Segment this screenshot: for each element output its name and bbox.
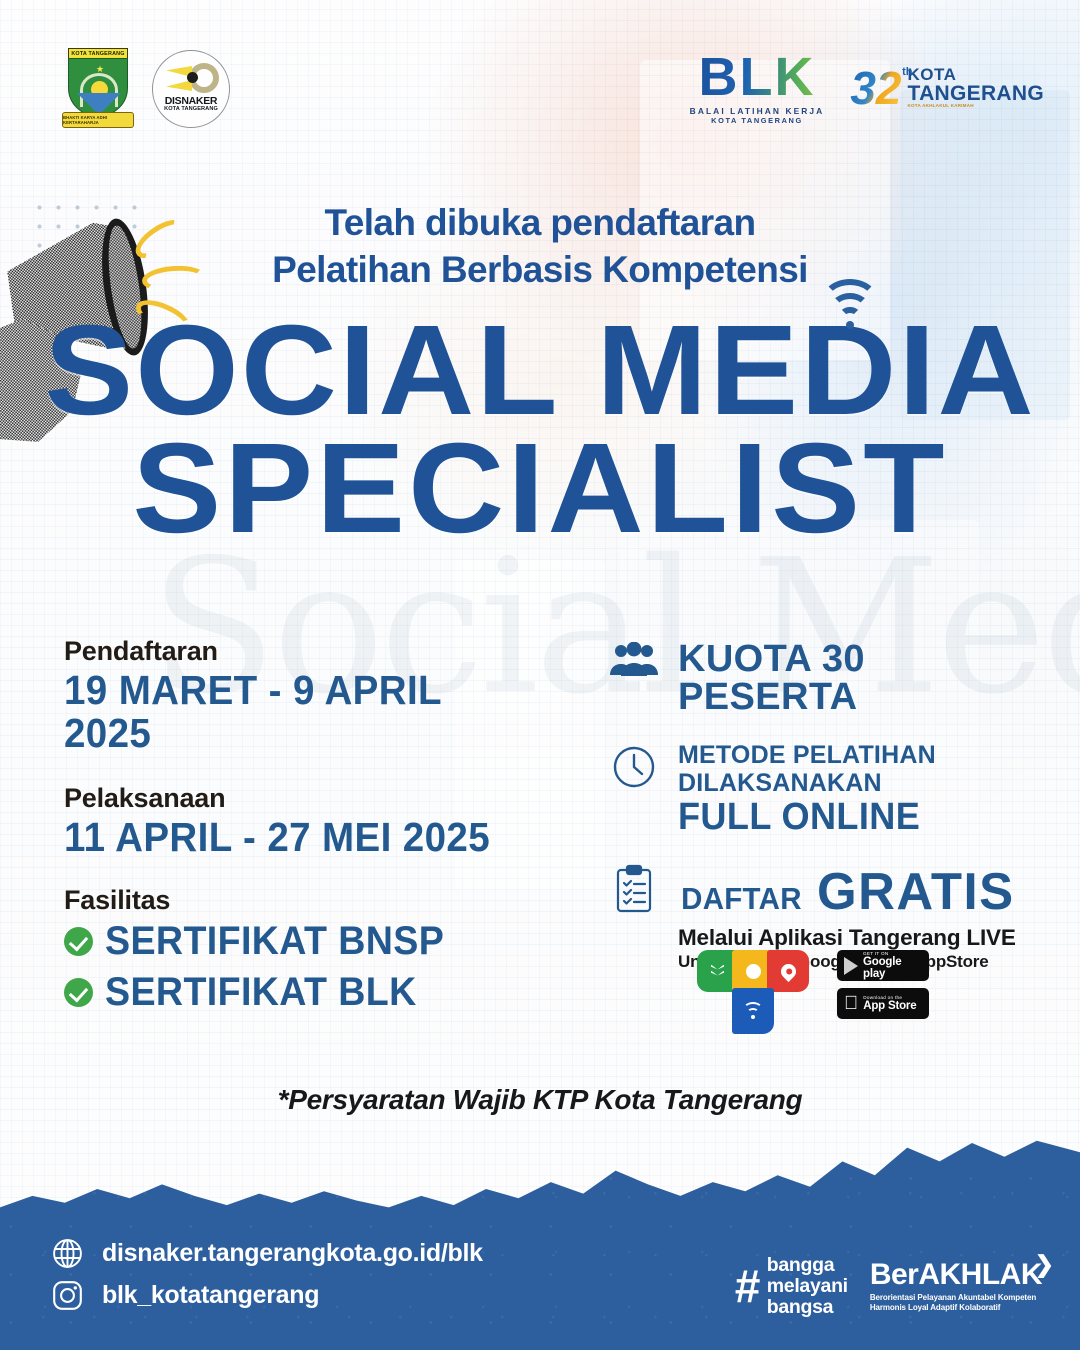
hash-icon: # [734, 1263, 760, 1309]
hero-title: SOCIAL MEDIA SPECIALIST [0, 312, 1080, 548]
circle-icon [746, 964, 761, 979]
bangga-line-1: bangga [767, 1255, 848, 1276]
wifi-icon [818, 277, 882, 329]
double-chevron-icon [710, 965, 726, 978]
anniversary-number-text: 32 [850, 62, 901, 114]
footer-logos: # bangga melayani bangsa BerAKHLAK ❯ Ber… [734, 1255, 1042, 1318]
anniversary-ordinal: th [902, 67, 912, 78]
tangerang-live-logo-icon[interactable] [697, 950, 809, 1038]
details-right-column: KUOTA 30 PESERTA METODE PELATIHAN DILAKS… [608, 640, 1048, 998]
google-play-badge[interactable]: GET IT ON Google play [837, 950, 929, 981]
register-subtitle-1: Melalui Aplikasi Tangerang LIVE [678, 925, 1017, 951]
requirement-note: *Persyaratan Wajib KTP Kota Tangerang [0, 1084, 1080, 1116]
hero-kicker: Telah dibuka pendaftaran Pelatihan Berba… [0, 200, 1080, 293]
blk-subtitle-2: KOTA TANGERANG [690, 116, 825, 125]
kota-tangerang-crest-icon: KOTA TANGERANG ★ BHAKTI KARYA ADHI KERTA… [62, 48, 134, 130]
crest-ribbon: BHAKTI KARYA ADHI KERTARAHARJA [62, 112, 134, 128]
berakhlak-subtitle-1: Berorientasi Pelayanan Akuntabel Kompete… [870, 1293, 1042, 1303]
details-left-column: Pendaftaran 19 MARET - 9 APRIL 2025 Pela… [64, 636, 534, 1023]
register-prefix: DAFTAR [681, 881, 802, 917]
tile-blue [732, 988, 774, 1034]
anniversary-line-1: KOTA [908, 66, 1044, 83]
clipboard-checklist-icon [608, 862, 660, 914]
wifi-small-icon [743, 1003, 763, 1019]
bangga-line-3: bangsa [767, 1297, 848, 1318]
hero-title-line-2: SPECIALIST [0, 430, 1080, 548]
bangga-lines: bangga melayani bangsa [767, 1255, 848, 1318]
quota-body: KUOTA 30 PESERTA [678, 640, 1048, 716]
wifi-dot [846, 321, 854, 329]
blk-subtitle-1: BALAI LATIHAN KERJA [690, 106, 825, 116]
hero-kicker-line-2: Pelatihan Berbasis Kompetensi [0, 247, 1080, 294]
chevron-right-icon: ❯ [1035, 1251, 1054, 1278]
bangga-melayani-bangsa-logo: # bangga melayani bangsa [734, 1255, 848, 1318]
header-logos-left: KOTA TANGERANG ★ BHAKTI KARYA ADHI KERTA… [62, 48, 230, 130]
quota-value: KUOTA 30 PESERTA [678, 638, 865, 718]
tile-red [767, 950, 809, 992]
facilities-list: SERTIFIKAT BNSP SERTIFIKAT BLK [64, 920, 534, 1014]
method-row: METODE PELATIHAN DILAKSANAKAN FULL ONLIN… [608, 742, 1048, 836]
anniversary-number: 32 th [850, 65, 901, 111]
app-store-text: Download on the App Store [863, 995, 916, 1012]
blk-logo: BLK BALAI LATIHAN KERJA KOTA TANGERANG [690, 50, 825, 125]
register-headline: DAFTAR GRATIS [678, 862, 1017, 922]
instagram-icon [52, 1280, 83, 1311]
google-play-icon [844, 957, 858, 975]
facility-label: SERTIFIKAT BLK [105, 971, 417, 1014]
clock-icon [608, 742, 660, 790]
app-store-big: App Store [863, 1000, 916, 1012]
crest-shield: ★ [68, 58, 128, 116]
implementation-value: 11 APRIL - 27 MEI 2025 [64, 816, 506, 859]
anniversary-logo: 32 th KOTA TANGERANG KOTA AKHLAKUL KARIM… [850, 65, 1044, 111]
website-url: disnaker.tangerangkota.go.id/blk [102, 1239, 483, 1268]
berakhlak-wordmark: BerAKHLAK [870, 1260, 1042, 1290]
people-icon [608, 640, 660, 680]
disnaker-dot [187, 72, 198, 83]
header-logos-right: BLK BALAI LATIHAN KERJA KOTA TANGERANG 3… [690, 50, 1044, 125]
instagram-handle: blk_kotatangerang [102, 1281, 319, 1310]
registration-label: Pendaftaran [64, 636, 534, 667]
method-label: METODE PELATIHAN DILAKSANAKAN [678, 741, 936, 797]
bangga-line-2: melayani [767, 1276, 848, 1297]
anniversary-line-2: TANGERANG [908, 83, 1044, 104]
list-item: SERTIFIKAT BNSP [64, 920, 534, 963]
implementation-label: Pelaksanaan [64, 783, 534, 814]
location-pin-icon [777, 960, 798, 981]
hero-kicker-line-1: Telah dibuka pendaftaran [0, 200, 1080, 247]
berakhlak-subtitle-2: Harmonis Loyal Adaptif Kolaboratif [870, 1303, 1042, 1313]
google-play-big: Google play [863, 956, 922, 980]
disnaker-logo-icon: DISNAKER KOTA TANGERANG [152, 50, 230, 128]
registration-value: 19 MARET - 9 APRIL 2025 [64, 669, 506, 755]
blk-wordmark: BLK [690, 50, 825, 104]
app-store-badge[interactable]:  Download on the App Store [837, 988, 929, 1019]
disnaker-subtitle: KOTA TANGERANG [153, 106, 229, 112]
facility-label: SERTIFIKAT BNSP [105, 920, 444, 963]
method-value: FULL ONLINE [678, 798, 1030, 836]
register-gratis: GRATIS [817, 862, 1015, 922]
facilities-label: Fasilitas [64, 885, 534, 916]
berakhlak-logo: BerAKHLAK ❯ Berorientasi Pelayanan Akunt… [870, 1260, 1042, 1313]
poster-root: Social Media KOTA TANGERANG ★ BHAKTI KAR… [0, 0, 1080, 1350]
list-item: SERTIFIKAT BLK [64, 971, 534, 1014]
method-body: METODE PELATIHAN DILAKSANAKAN FULL ONLIN… [678, 742, 1048, 836]
globe-icon [52, 1238, 83, 1269]
quota-row: KUOTA 30 PESERTA [608, 640, 1048, 716]
website-row[interactable]: disnaker.tangerangkota.go.id/blk [52, 1238, 483, 1269]
store-badges: GET IT ON Google play  Download on the … [837, 950, 929, 1019]
google-play-text: GET IT ON Google play [863, 951, 922, 980]
wifi-small-dot [751, 1015, 755, 1019]
instagram-row[interactable]: blk_kotatangerang [52, 1280, 483, 1311]
contact-info: disnaker.tangerangkota.go.id/blk blk_kot… [52, 1238, 483, 1322]
check-circle-icon [64, 978, 93, 1007]
check-circle-icon [64, 927, 93, 956]
apple-icon:  [844, 994, 858, 1013]
anniversary-wordmark: KOTA TANGERANG KOTA AKHLAKUL KARIMAH [908, 66, 1044, 109]
hero-title-line-1: SOCIAL MEDIA [0, 312, 1080, 430]
app-download-area: GET IT ON Google play  Download on the … [697, 950, 929, 1038]
